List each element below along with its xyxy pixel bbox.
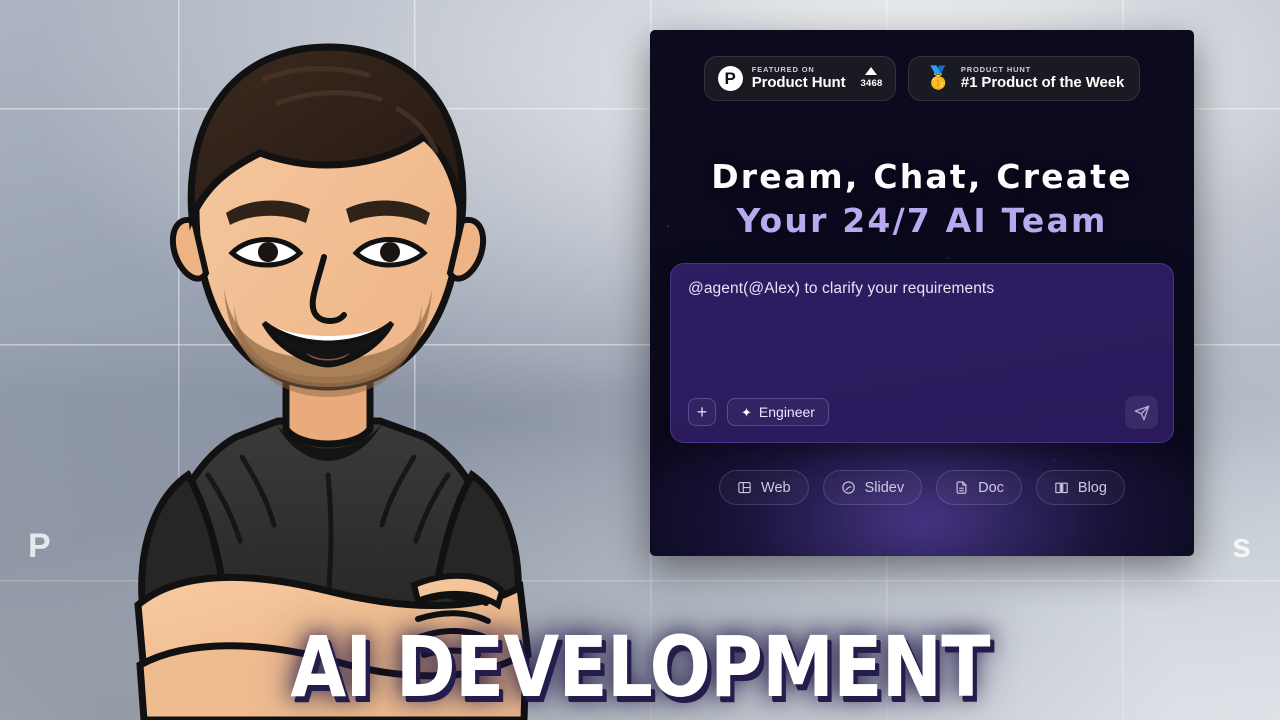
product-of-the-week-badge[interactable]: 🥇 PRODUCT HUNT #1 Product of the Week <box>908 56 1140 101</box>
overlay-title: AI DEVELOPMENT <box>90 629 1191 706</box>
presenter-illustration <box>28 5 628 720</box>
upvote-count: 3468 <box>861 78 883 89</box>
sparkle-icon: ✦ <box>741 406 752 419</box>
award-badges: P FEATURED ON Product Hunt 3468 🥇 PRODUC… <box>650 56 1194 101</box>
layout-panel-icon <box>737 480 752 495</box>
app-screenshot-panel: P FEATURED ON Product Hunt 3468 🥇 PRODUC… <box>650 30 1194 556</box>
agent-mode-label: Engineer <box>759 404 815 420</box>
quick-action-label: Slidev <box>865 480 905 496</box>
gold-medal-icon: 🥇 <box>924 67 951 89</box>
quick-action-row: Web Slidev Doc Blog <box>650 470 1194 505</box>
quick-action-label: Web <box>761 480 791 496</box>
badge-kicker: PRODUCT HUNT <box>961 65 1124 74</box>
headline-line-2: Your 24/7 AI Team <box>650 202 1194 241</box>
badge-title: Product Hunt <box>752 74 846 91</box>
chat-composer[interactable]: @agent(@Alex) to clarify your requiremen… <box>670 263 1174 443</box>
send-button[interactable] <box>1125 396 1158 429</box>
upvote-group[interactable]: 3468 <box>861 67 883 89</box>
send-paper-plane-icon <box>1134 405 1150 421</box>
book-open-icon <box>1054 480 1069 495</box>
hero-headline: Dream, Chat, Create Your 24/7 AI Team <box>650 158 1194 241</box>
product-hunt-featured-badge[interactable]: P FEATURED ON Product Hunt 3468 <box>704 56 897 101</box>
quick-action-label: Doc <box>978 480 1004 496</box>
presentation-icon <box>841 480 856 495</box>
quick-action-label: Blog <box>1078 480 1107 496</box>
product-hunt-logo-icon: P <box>718 66 743 91</box>
quick-action-doc[interactable]: Doc <box>936 470 1022 505</box>
badge-title: #1 Product of the Week <box>961 74 1124 91</box>
quick-action-blog[interactable]: Blog <box>1036 470 1125 505</box>
badge-kicker: FEATURED ON <box>752 65 846 74</box>
upvote-triangle-icon <box>865 67 877 75</box>
headline-line-1: Dream, Chat, Create <box>650 158 1194 197</box>
add-attachment-button[interactable]: + <box>688 398 716 426</box>
quick-action-slidev[interactable]: Slidev <box>823 470 923 505</box>
composer-toolbar: + ✦ Engineer <box>688 398 829 426</box>
document-icon <box>954 480 969 495</box>
quick-action-web[interactable]: Web <box>719 470 809 505</box>
chat-input[interactable]: @agent(@Alex) to clarify your requiremen… <box>688 280 1153 298</box>
agent-mode-chip[interactable]: ✦ Engineer <box>727 398 829 426</box>
thumbnail-canvas: P s <box>0 0 1280 720</box>
background-text-right: s <box>1232 527 1252 571</box>
